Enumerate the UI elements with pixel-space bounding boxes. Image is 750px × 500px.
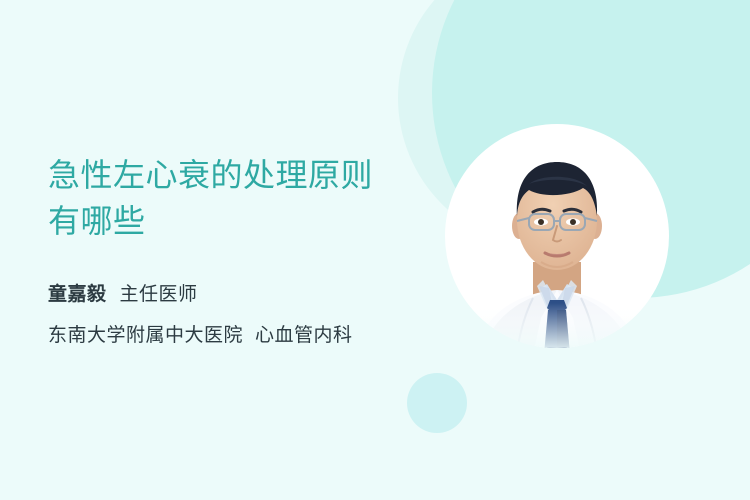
doctor-identity-line: 童嘉毅 主任医师	[48, 279, 438, 306]
doctor-affiliation-line: 东南大学附属中大医院 心血管内科	[48, 320, 438, 347]
department-name: 心血管内科	[255, 320, 353, 347]
doctor-portrait	[445, 122, 669, 354]
decorative-circle-small	[407, 373, 467, 433]
doctor-rank: 主任医师	[120, 279, 198, 306]
question-title: 急性左心衰的处理原则 有哪些	[48, 152, 438, 244]
text-block: 急性左心衰的处理原则 有哪些 童嘉毅 主任医师 东南大学附属中大医院 心血管内科	[48, 152, 438, 347]
doctor-qa-card: 急性左心衰的处理原则 有哪些 童嘉毅 主任医师 东南大学附属中大医院 心血管内科	[0, 0, 750, 500]
doctor-name: 童嘉毅	[48, 279, 107, 306]
hospital-name: 东南大学附属中大医院	[48, 320, 243, 347]
